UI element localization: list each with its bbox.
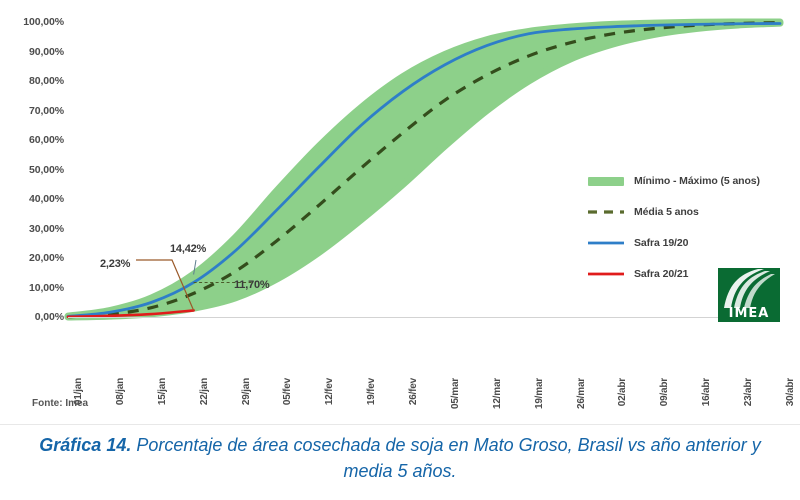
x-axis-tick-label: 02/abr [617, 378, 628, 406]
caption-divider [0, 424, 800, 425]
x-axis-tick-label: 19/fev [366, 378, 377, 405]
y-axis-tick-label: 30,00% [29, 223, 64, 235]
caption-text: Porcentaje de área cosechada de soja en … [131, 435, 760, 481]
source-note: Fonte: Imea [32, 398, 88, 409]
x-axis-tick-label: 16/abr [701, 378, 712, 406]
y-axis-tick-label: 90,00% [29, 46, 64, 58]
y-axis-tick-label: 70,00% [29, 105, 64, 117]
legend-item-media-5-anos: Média 5 anos [588, 196, 788, 227]
x-axis-tick-label: 12/fev [324, 378, 335, 405]
legend-label-safra-20-21: Safra 20/21 [634, 268, 688, 280]
y-axis-tick-label: 60,00% [29, 134, 64, 146]
legend-label-minimo-maximo: Mínimo - Máximo (5 anos) [634, 175, 760, 187]
x-axis-tick-label: 26/fev [408, 378, 419, 405]
legend-item-minimo-maximo: Mínimo - Máximo (5 anos) [588, 165, 788, 196]
x-axis-tick-label: 23/abr [743, 378, 754, 406]
legend-swatch-band-icon [588, 174, 624, 188]
x-axis-tick-label: 19/mar [534, 378, 545, 409]
x-axis-tick-label: 30/abr [785, 378, 796, 406]
legend-swatch-blue-line-icon [588, 236, 624, 250]
figure-caption: Gráfica 14. Porcentaje de área cosechada… [28, 432, 772, 484]
legend-label-safra-19-20: Safra 19/20 [634, 237, 688, 249]
y-axis-labels: 0,00%10,00%20,00%30,00%40,00%50,00%60,00… [0, 0, 64, 320]
legend-label-media-5-anos: Média 5 anos [634, 206, 699, 218]
y-axis-tick-label: 20,00% [29, 252, 64, 264]
x-axis-tick-label: 09/abr [659, 378, 670, 406]
x-axis-tick-label: 15/jan [157, 378, 168, 405]
chart-area: 0,00%10,00%20,00%30,00%40,00%50,00%60,00… [0, 0, 800, 385]
y-axis-tick-label: 50,00% [29, 164, 64, 176]
x-axis-tick-label: 26/mar [576, 378, 587, 409]
annotation-safra-2021: 2,23% [100, 258, 130, 270]
x-axis-tick-label: 29/jan [241, 378, 252, 405]
annotation-safra-1920: 11,70% [234, 279, 270, 291]
figure-container: 0,00%10,00%20,00%30,00%40,00%50,00%60,00… [0, 0, 800, 500]
x-axis-tick-label: 12/mar [492, 378, 503, 409]
imea-logo: IMEA [718, 268, 780, 322]
y-axis-tick-label: 0,00% [35, 311, 64, 323]
y-axis-tick-label: 10,00% [29, 282, 64, 294]
legend-swatch-red-line-icon [588, 267, 624, 281]
y-axis-tick-label: 40,00% [29, 193, 64, 205]
x-axis-tick-label: 22/jan [199, 378, 210, 405]
x-axis-tick-label: 05/mar [450, 378, 461, 409]
legend-swatch-dashed-icon [588, 205, 624, 219]
annotation-media: 14,42% [170, 243, 206, 255]
y-axis-tick-label: 100,00% [23, 16, 64, 28]
imea-logo-artwork-icon [718, 268, 780, 308]
legend-item-safra-19-20: Safra 19/20 [588, 227, 788, 258]
caption-label: Gráfica 14. [39, 435, 131, 455]
imea-logo-text: IMEA [729, 307, 770, 321]
x-axis-line [68, 317, 780, 318]
x-axis-labels: 01/jan08/jan15/jan22/jan29/jan05/fev12/f… [68, 320, 780, 382]
x-axis-tick-label: 05/fev [282, 378, 293, 405]
x-axis-tick-label: 08/jan [115, 378, 126, 405]
y-axis-tick-label: 80,00% [29, 75, 64, 87]
